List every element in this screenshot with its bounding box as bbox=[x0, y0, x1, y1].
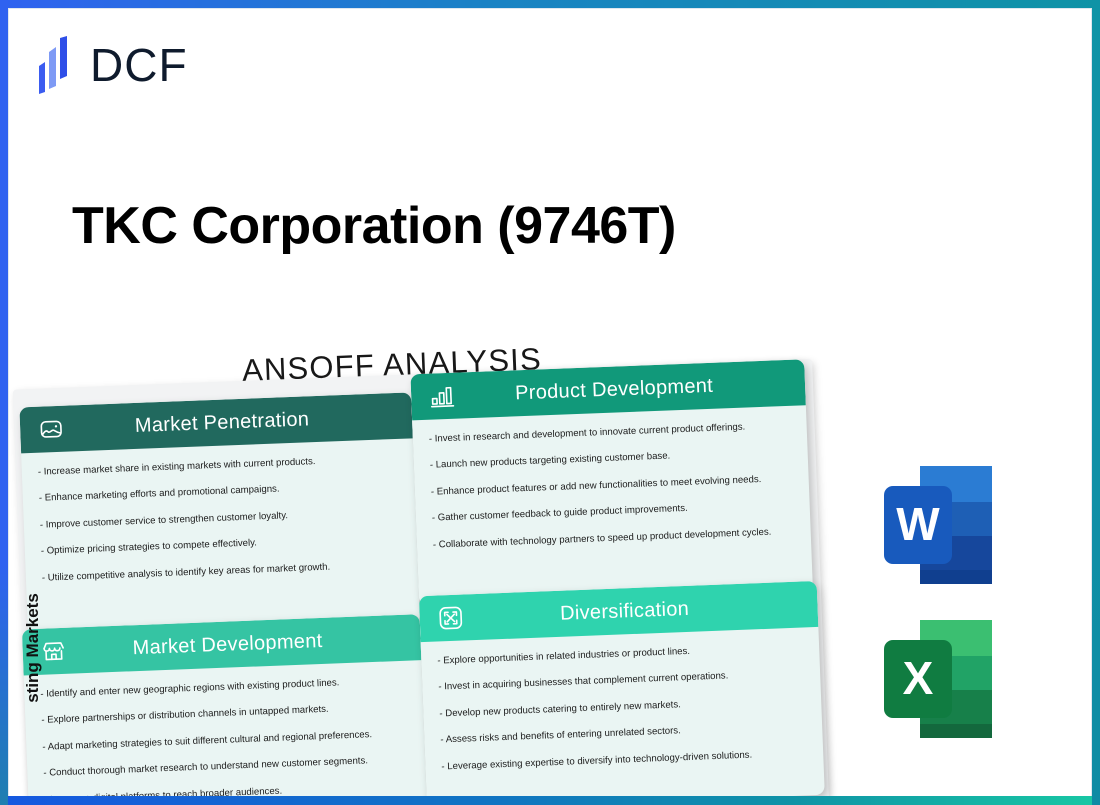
frame-border-top bbox=[0, 0, 1100, 8]
dcf-bars-logo-icon bbox=[38, 36, 78, 94]
list-item: Adapt marketing strategies to suit diffe… bbox=[42, 728, 406, 754]
list-item: Explore opportunities in related industr… bbox=[437, 642, 801, 668]
quadrant-title: Product Development bbox=[459, 371, 792, 407]
microsoft-word-icon[interactable]: W bbox=[884, 462, 992, 588]
frame-border-right bbox=[1092, 0, 1100, 805]
image-photo-icon bbox=[34, 412, 69, 447]
axis-label-existing-markets: sting Markets bbox=[23, 533, 43, 763]
list-item: Assess risks and benefits of entering un… bbox=[440, 721, 804, 747]
list-item: Collaborate with technology partners to … bbox=[433, 526, 793, 552]
list-item: Utilize competitive analysis to identify… bbox=[42, 559, 400, 585]
frame-border-left bbox=[0, 0, 8, 805]
list-item: Explore partnerships or distribution cha… bbox=[41, 701, 405, 727]
list-item: Develop new products catering to entirel… bbox=[439, 695, 803, 721]
list-item: Optimize pricing strategies to compete e… bbox=[41, 532, 399, 558]
list-item: Identify and enter new geographic region… bbox=[40, 675, 404, 701]
list-item: Invest in acquiring businesses that comp… bbox=[438, 668, 802, 694]
quadrant-market-penetration[interactable]: Market Penetration Increase market share… bbox=[19, 392, 420, 639]
svg-text:X: X bbox=[903, 652, 934, 704]
list-item: Increase market share in existing market… bbox=[38, 453, 396, 479]
list-item: Gather customer feedback to guide produc… bbox=[432, 499, 792, 525]
list-item: Launch new products targeting existing c… bbox=[430, 446, 790, 472]
brand-logo[interactable]: DCF bbox=[38, 36, 188, 94]
brand-logo-text: DCF bbox=[90, 42, 188, 88]
frame-border-bottom bbox=[0, 796, 1100, 805]
quadrant-diversification[interactable]: Diversification Explore opportunities in… bbox=[419, 581, 825, 805]
list-item: Leverage existing expertise to diversify… bbox=[441, 747, 805, 773]
quadrant-title: Market Penetration bbox=[68, 404, 399, 440]
bar-chart-icon bbox=[425, 379, 460, 414]
list-item: Enhance marketing efforts and promotiona… bbox=[39, 479, 397, 505]
ansoff-matrix-graphic: ANSOFF ANALYSIS Market Penetration Incre… bbox=[14, 338, 834, 805]
quadrant-bullet-list: Explore opportunities in related industr… bbox=[421, 627, 825, 799]
expand-arrows-icon bbox=[433, 600, 468, 635]
quadrant-bullet-list: Identify and enter new geographic region… bbox=[24, 660, 428, 805]
list-item: Conduct thorough market research to unde… bbox=[43, 754, 407, 780]
quadrant-product-development[interactable]: Product Development Invest in research a… bbox=[410, 359, 813, 606]
list-item: Invest in research and development to in… bbox=[429, 420, 789, 446]
svg-text:W: W bbox=[896, 498, 940, 550]
microsoft-excel-icon[interactable]: X bbox=[884, 616, 992, 742]
list-item: Enhance product features or add new func… bbox=[431, 473, 791, 499]
quadrant-bullet-list: Invest in research and development to in… bbox=[412, 405, 812, 576]
quadrant-bullet-list: Increase market share in existing market… bbox=[21, 438, 419, 609]
quadrant-title: Market Development bbox=[70, 626, 407, 662]
quadrant-title: Diversification bbox=[467, 593, 804, 629]
quadrant-market-development[interactable]: Market Development Identify and enter ne… bbox=[22, 614, 428, 805]
page-title: TKC Corporation (9746T) bbox=[72, 196, 676, 256]
list-item: Improve customer service to strengthen c… bbox=[40, 506, 398, 532]
page-root: DCF TKC Corporation (9746T) ANSOFF ANALY… bbox=[0, 0, 1100, 805]
